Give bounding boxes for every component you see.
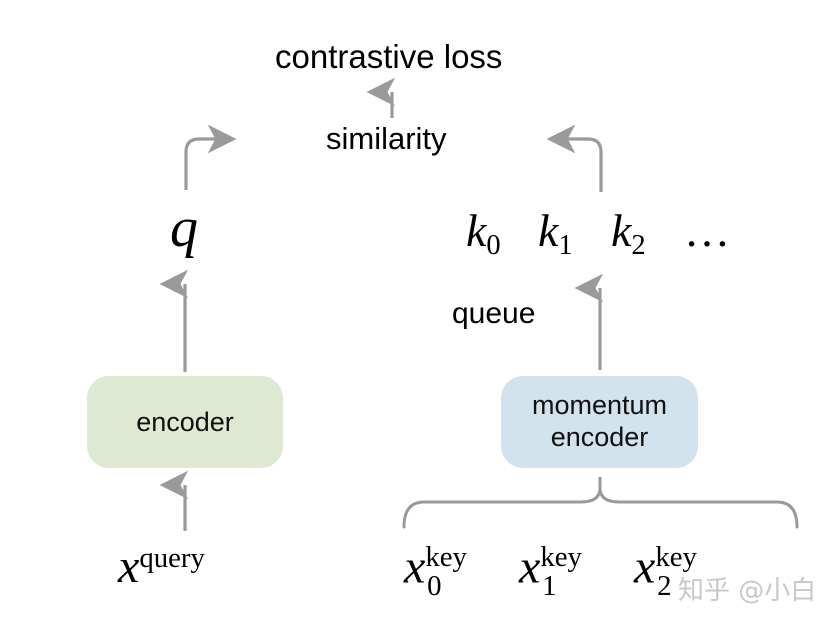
- k1-subscript: 1: [558, 230, 572, 261]
- k0-subscript: 0: [486, 230, 500, 261]
- contrastive-loss-label: contrastive loss: [275, 40, 502, 73]
- similarity-label: similarity: [326, 123, 447, 154]
- x-key-2-subscript: 2: [657, 570, 671, 602]
- momentum-encoder-box-label: momentum encoder: [532, 390, 667, 454]
- k0-base: k: [466, 205, 486, 256]
- key-inputs-brace: [404, 488, 797, 527]
- input-x-key-0: xkey0: [404, 543, 442, 601]
- q-symbol: q: [170, 200, 198, 256]
- x-key-1-superscript: key: [540, 541, 582, 573]
- x-query-base: x: [118, 540, 139, 593]
- x-key-1-subscript: 1: [542, 570, 556, 602]
- key-symbol-k0: k0: [466, 208, 501, 261]
- x-query-superscript: query: [139, 542, 205, 574]
- keys-ellipsis: …: [684, 208, 730, 254]
- momentum-encoder-box[interactable]: momentum encoder: [501, 376, 698, 468]
- diagram-canvas: contrastive loss similarity q k0 k1 k2 ……: [0, 0, 826, 634]
- x-key-0-base: x: [404, 541, 425, 594]
- queue-label: queue: [452, 299, 535, 329]
- k2-base: k: [611, 205, 631, 256]
- key-symbol-k1: k1: [538, 208, 573, 261]
- input-x-key-2: xkey2: [634, 543, 672, 601]
- key-symbol-k2: k2: [611, 208, 646, 261]
- x-key-1-base: x: [519, 541, 540, 594]
- x-key-0-subscript: 0: [427, 570, 441, 602]
- arrow-keys-to-similarity: [551, 139, 601, 192]
- encoder-box[interactable]: encoder: [87, 376, 283, 468]
- arrows-layer: [0, 0, 826, 634]
- x-key-2-base: x: [634, 541, 655, 594]
- arrow-q-to-similarity: [186, 139, 232, 190]
- momentum-encoder-line1: momentum: [532, 390, 667, 420]
- input-x-query: xquery: [118, 543, 205, 591]
- input-x-key-1: xkey1: [519, 543, 557, 601]
- x-key-0-superscript: key: [425, 541, 467, 573]
- watermark: 知乎 @小白: [678, 570, 816, 607]
- momentum-encoder-line2: encoder: [551, 422, 649, 452]
- x-key-2-superscript: key: [655, 541, 697, 573]
- k2-subscript: 2: [631, 230, 645, 261]
- encoder-box-label: encoder: [136, 409, 234, 436]
- k1-base: k: [538, 205, 558, 256]
